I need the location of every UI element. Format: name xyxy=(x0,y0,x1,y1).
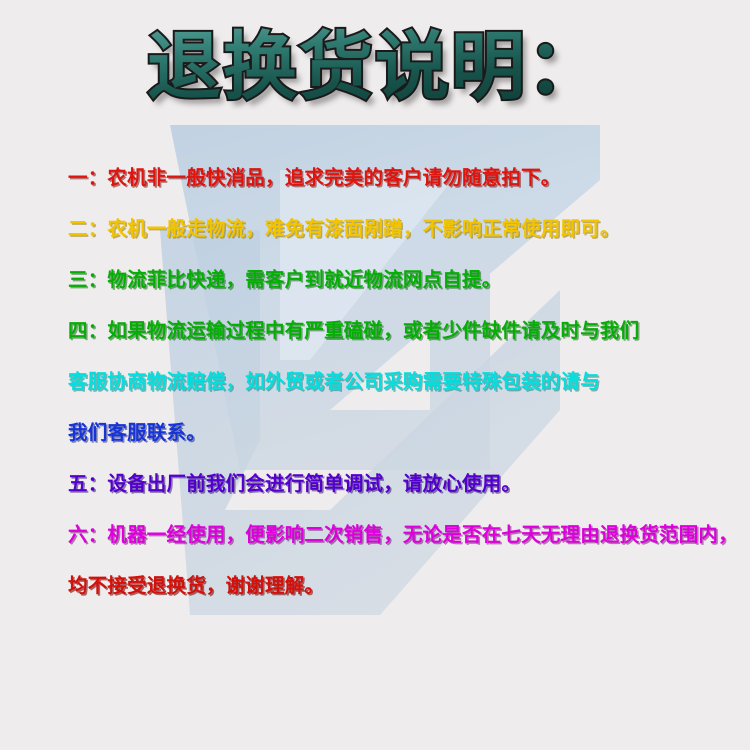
policy-list: 一：农机非一般快消品，追求完美的客户请勿随意拍下。 二：农机一般走物流，难免有漆… xyxy=(68,152,738,611)
policy-item-4-cont-1: 客服协商物流赔偿，如外贸或者公司采购需要特殊包装的请与 xyxy=(68,356,738,407)
policy-item-4-cont-2: 我们客服联系。 xyxy=(68,407,738,458)
return-policy-poster: 退换货说明： 退换货说明： 一：农机非一般快消品，追求完美的客户请勿随意拍下。 … xyxy=(0,0,750,750)
policy-item-1: 一：农机非一般快消品，追求完美的客户请勿随意拍下。 xyxy=(68,152,738,203)
policy-item-6: 六：机器一经使用，便影响二次销售，无论是否在七天无理由退换货范围内， xyxy=(68,509,738,560)
policy-item-4: 四：如果物流运输过程中有严重磕碰，或者少件缺件请及时与我们 xyxy=(68,305,738,356)
policy-item-2: 二：农机一般走物流，难免有漆面剐蹭，不影响正常使用即可。 xyxy=(68,203,738,254)
policy-item-5: 五：设备出厂前我们会进行简单调试，请放心使用。 xyxy=(68,458,738,509)
page-title-container: 退换货说明： xyxy=(0,28,750,108)
policy-item-3: 三：物流菲比快递，需客户到就近物流网点自提。 xyxy=(68,254,738,305)
policy-item-6-cont-1: 均不接受退换货，谢谢理解。 xyxy=(68,560,738,611)
page-title: 退换货说明： xyxy=(147,28,603,108)
